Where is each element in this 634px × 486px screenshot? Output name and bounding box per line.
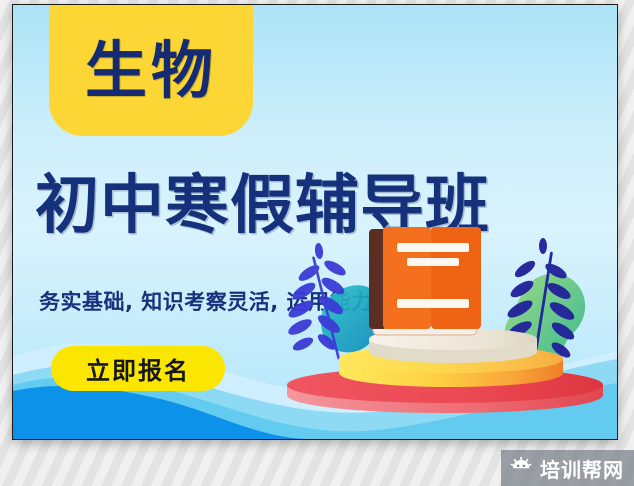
site-watermark-label: 培训帮网 — [540, 454, 624, 483]
sun-face-icon — [509, 456, 533, 480]
course-poster: 生物 初中寒假辅导班 务实基础, 知识考察灵活, 运用能力提升 立即报名 — [12, 4, 618, 440]
enroll-now-button-label: 立即报名 — [86, 351, 190, 386]
enroll-now-button[interactable]: 立即报名 — [51, 346, 225, 391]
subject-badge-label: 生物 — [85, 34, 217, 102]
screenshot-root: 生物 初中寒假辅导班 务实基础, 知识考察灵活, 运用能力提升 立即报名 — [0, 0, 634, 486]
book-on-podium-illustration — [273, 221, 617, 421]
site-watermark: 培训帮网 — [501, 450, 634, 486]
subject-badge: 生物 — [49, 4, 253, 136]
